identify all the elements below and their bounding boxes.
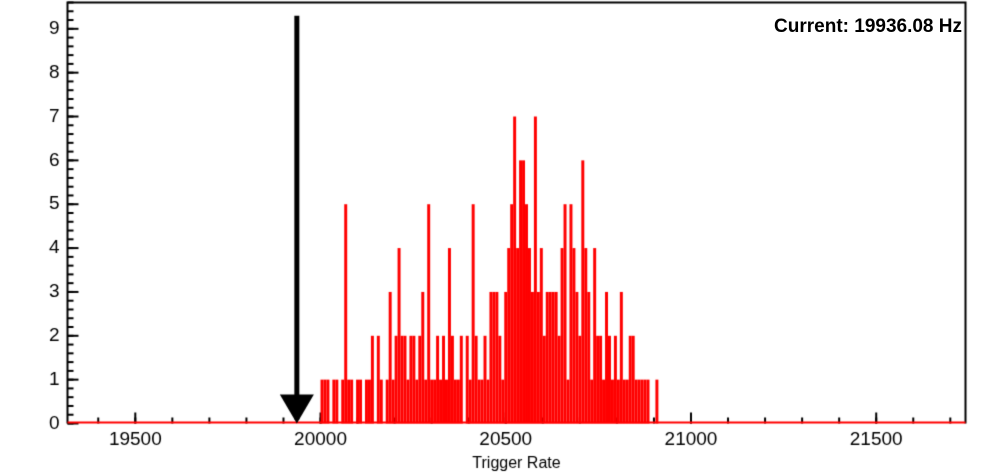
current-rate-label: Current: 19936.08 Hz (774, 16, 962, 38)
chart-root: Current: 19936.08 Hz (0, 0, 996, 472)
trigger-rate-histogram (0, 0, 996, 472)
